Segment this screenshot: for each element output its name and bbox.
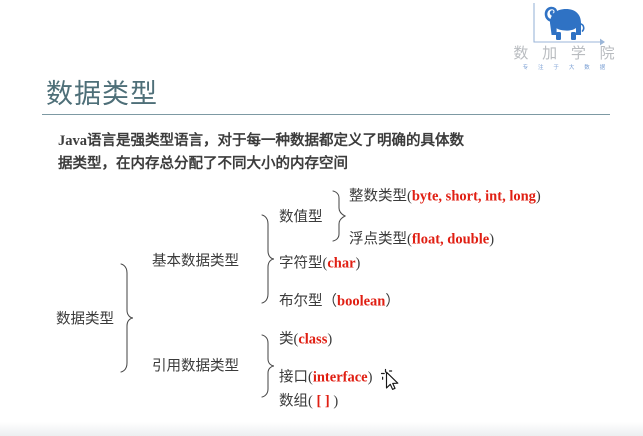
tree-node-primitive-label: 基本数据类型	[152, 250, 239, 271]
tree-leaf-char: 字符型(char)	[279, 252, 360, 273]
tree-leaf-integer-label: 整数类型	[349, 189, 407, 205]
tree-leaf-float: 浮点类型(float, double)	[349, 228, 494, 249]
tree-leaf-integer-keyword: byte, short, int, long	[412, 189, 536, 205]
tree-leaf-char-keyword: char	[327, 256, 355, 272]
tree-leaf-interface-close: )	[368, 370, 373, 386]
tree-leaf-array-label: 数组	[279, 394, 308, 410]
brace-root	[118, 260, 134, 376]
tree-leaf-integer: 整数类型(byte, short, int, long)	[349, 185, 541, 206]
tree-leaf-boolean-open: （	[323, 294, 338, 310]
tree-leaf-boolean-keyword: boolean	[337, 294, 385, 310]
tree-leaf-float-keyword: float, double	[412, 232, 489, 248]
tree-leaf-interface-label: 接口	[279, 370, 308, 386]
tree-leaf-array-close: )	[330, 394, 338, 410]
tree-node-reference-label: 引用数据类型	[152, 355, 239, 376]
tree-leaf-boolean-close: ）	[385, 294, 400, 310]
tree-leaf-class-close: )	[327, 332, 332, 348]
tree-leaf-boolean: 布尔型（boolean）	[279, 290, 400, 311]
tree-leaf-float-close: )	[489, 232, 494, 248]
brace-numeric	[330, 187, 346, 245]
brace-reference	[259, 331, 275, 401]
tree-leaf-char-label: 字符型	[279, 256, 323, 272]
tree-leaf-array: 数组( [ ] )	[279, 390, 338, 411]
brace-primitive	[259, 211, 275, 307]
tree-leaf-boolean-label: 布尔型	[279, 294, 323, 310]
tree-leaf-char-close: )	[356, 256, 361, 272]
tree-leaf-array-keyword: [ ]	[316, 394, 329, 410]
tree-leaf-interface-keyword: interface	[313, 370, 368, 386]
bottom-fade	[0, 422, 643, 436]
tree-leaf-float-label: 浮点类型	[349, 232, 407, 248]
tree-leaf-class-label: 类	[279, 332, 294, 348]
tree-leaf-interface: 接口(interface)	[279, 366, 372, 387]
tree-leaf-class: 类(class)	[279, 328, 332, 349]
tree-root-label: 数据类型	[56, 308, 114, 329]
tree-leaf-class-keyword: class	[298, 332, 327, 348]
data-type-tree: 数据类型 基本数据类型 数值型 整数类型(byte, short, int, l…	[0, 0, 643, 436]
tree-node-numeric-label: 数值型	[279, 206, 323, 227]
slide-canvas: 数 加 学 院 专 注 于 大 数 据 数据类型 Java语言是强类型语言，对于…	[0, 0, 643, 436]
tree-leaf-integer-close: )	[536, 189, 541, 205]
